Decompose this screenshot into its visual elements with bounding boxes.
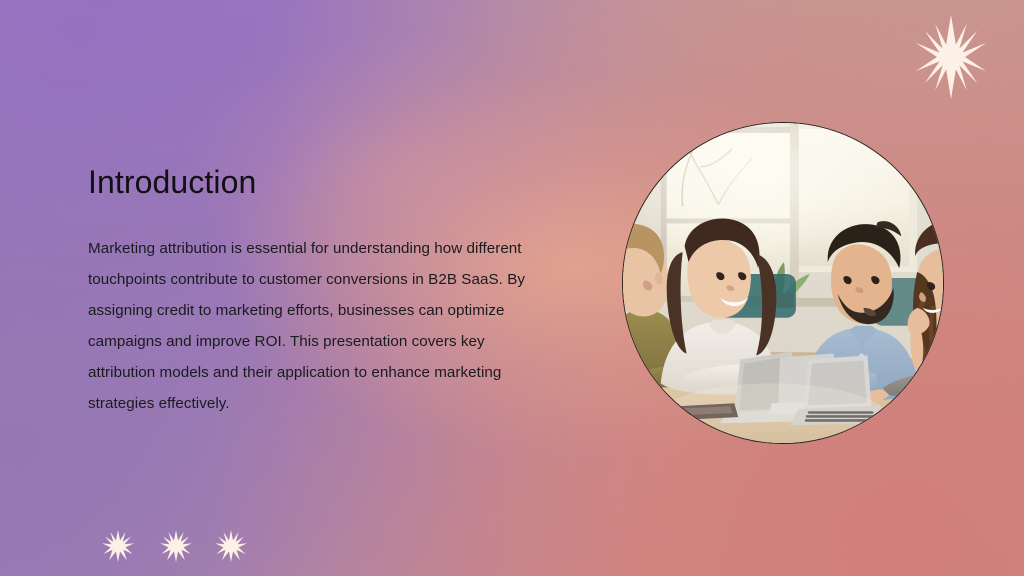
page-title: Introduction bbox=[88, 160, 558, 204]
sparkle-icon bbox=[907, 13, 995, 101]
slide-text-block: Introduction Marketing attribution is es… bbox=[88, 160, 558, 419]
sparkle-icon bbox=[214, 529, 248, 563]
sparkle-icon bbox=[159, 529, 193, 563]
sparkle-icon bbox=[101, 529, 135, 563]
presentation-slide: Introduction Marketing attribution is es… bbox=[0, 0, 1024, 576]
slide-body-paragraph: Marketing attribution is essential for u… bbox=[88, 204, 550, 419]
team-meeting-photo bbox=[622, 122, 944, 444]
